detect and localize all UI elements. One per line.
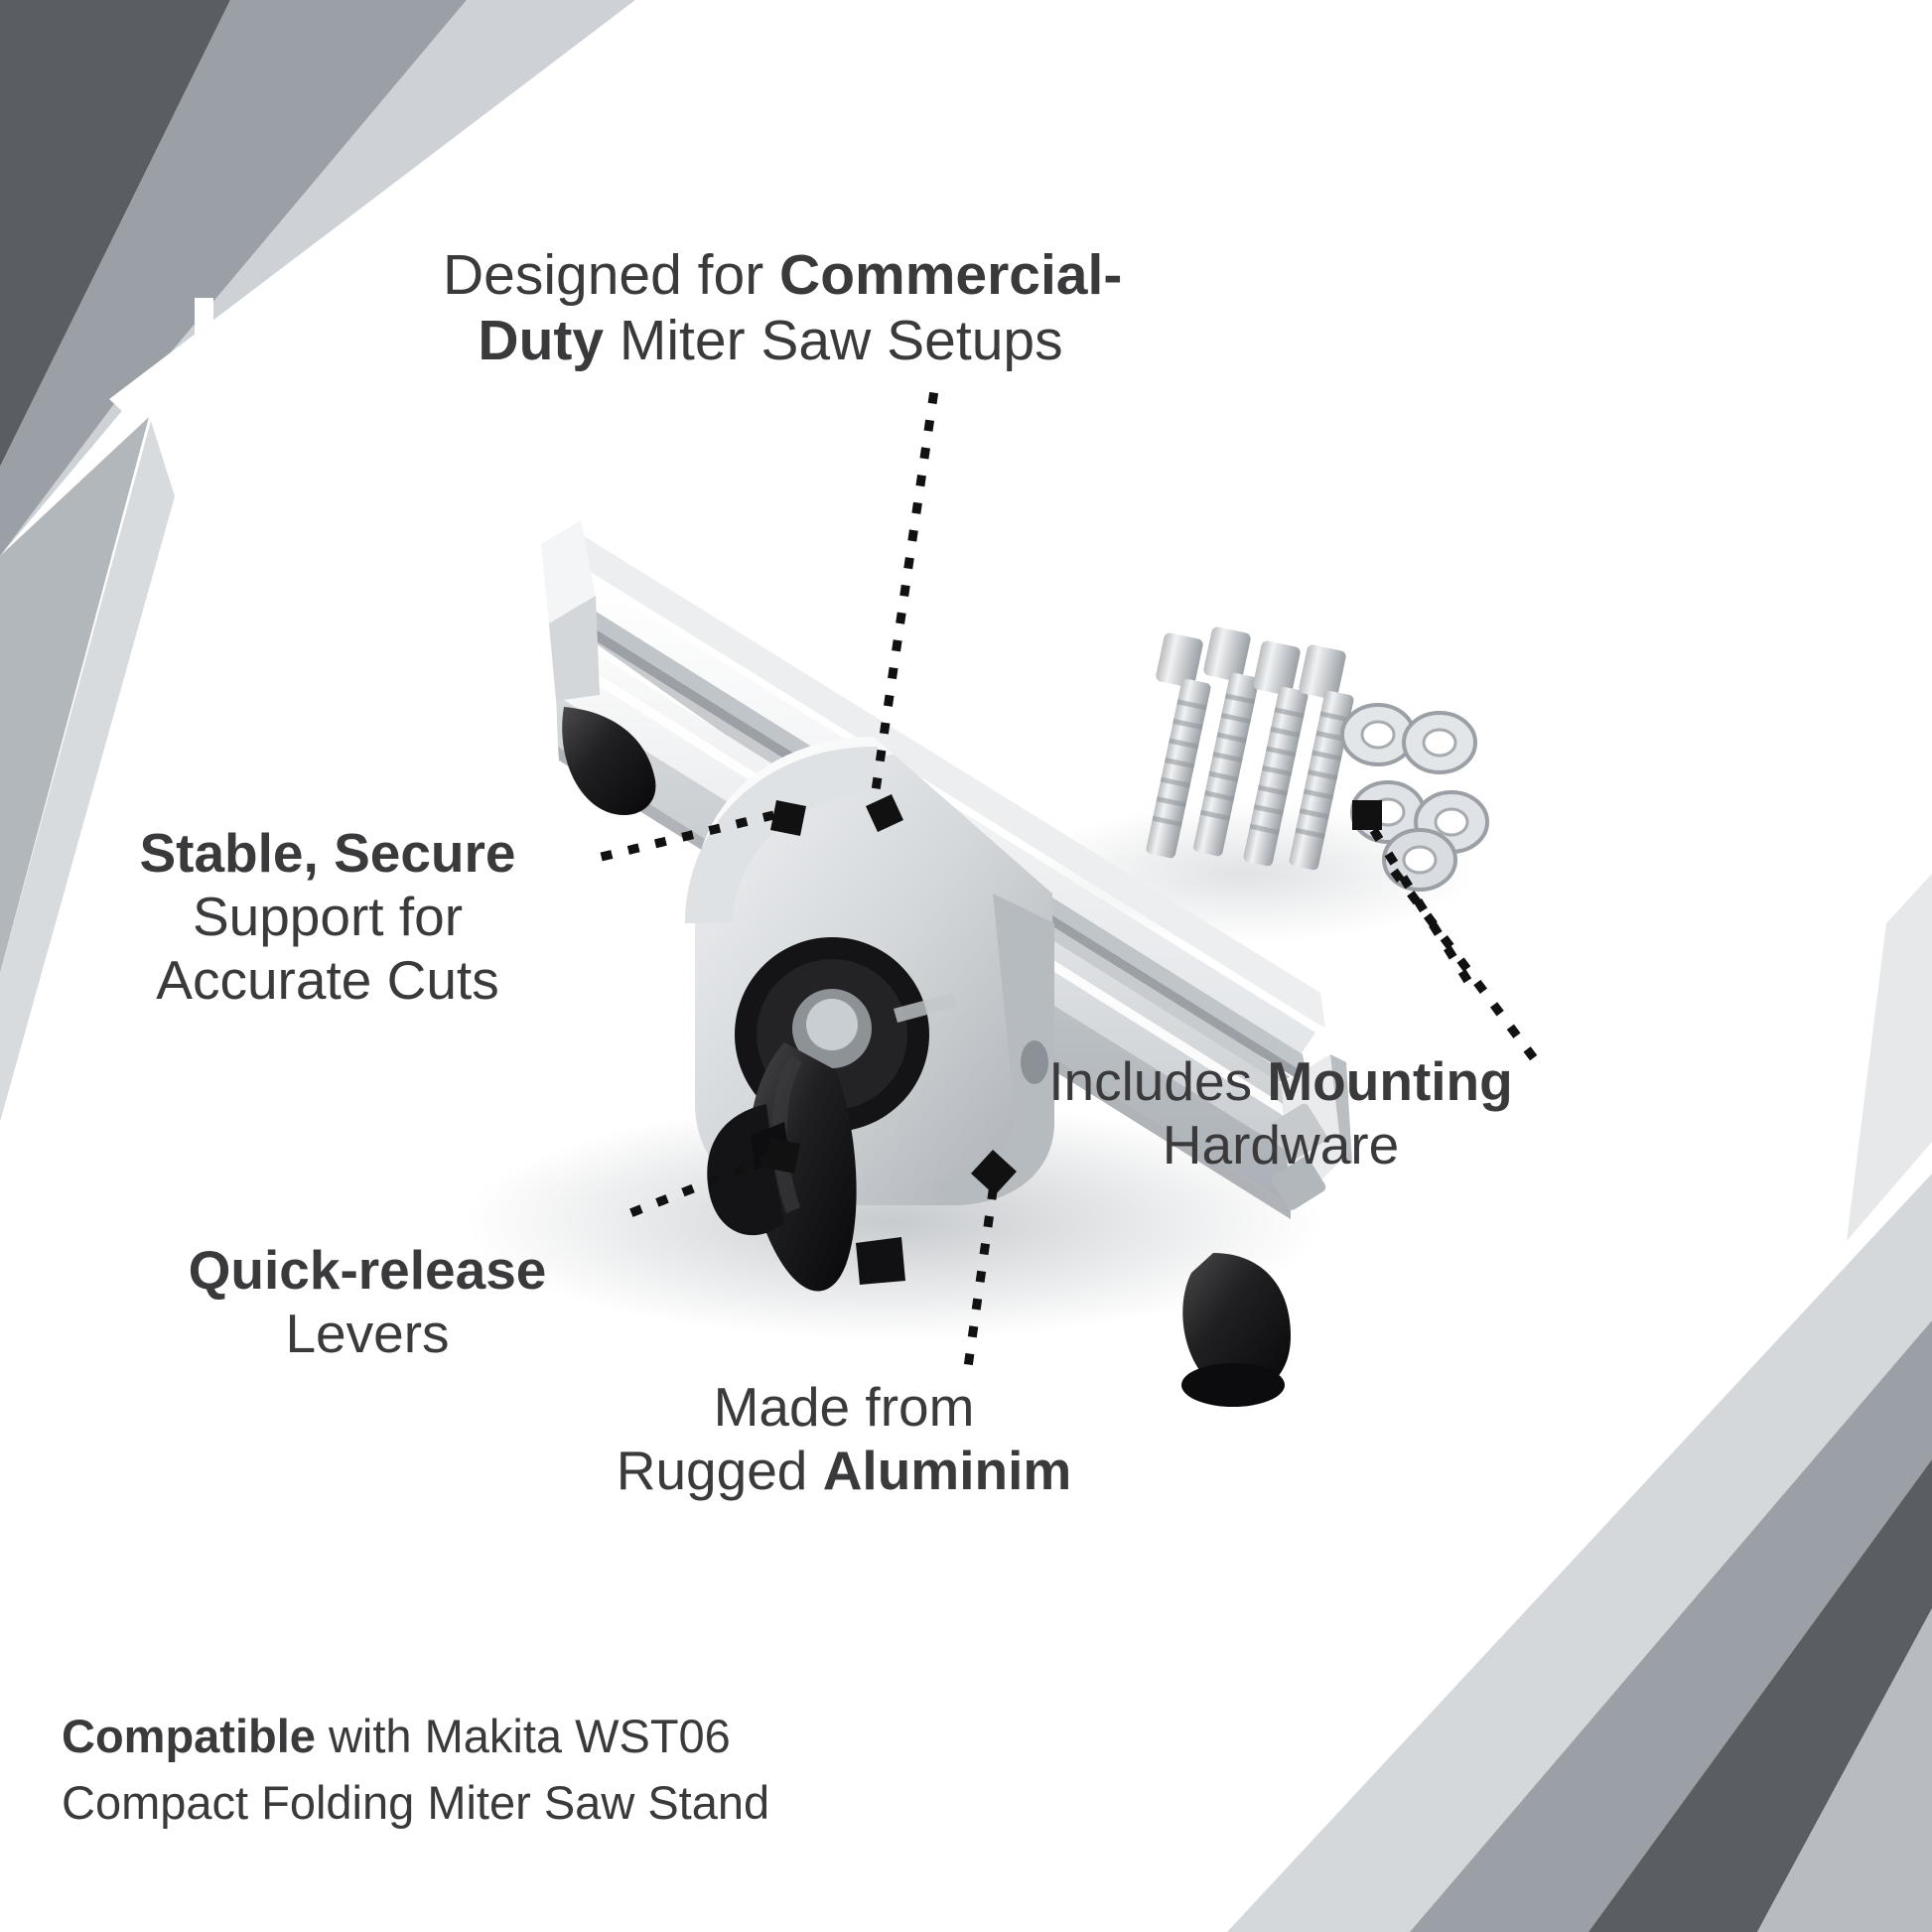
compatibility-line-1: Compatible with Makita WST06 <box>62 1704 1054 1770</box>
callout-commercial-duty: Designed for Commercial- Duty Miter Saw … <box>443 242 1098 373</box>
callout-mounting-line-1: Includes Mounting <box>1033 1050 1529 1114</box>
infographic-canvas: Designed for Commercial- Duty Miter Saw … <box>0 0 1932 1932</box>
callout-commercial-line-2: Duty Miter Saw Setups <box>443 308 1098 373</box>
callout-stable-line-1: Stable, Secure <box>119 822 536 886</box>
black-end-cap-right <box>1181 1253 1291 1407</box>
callout-mounting-line-2: Hardware <box>1033 1114 1529 1177</box>
callout-quick-line-2: Levers <box>159 1303 576 1366</box>
callout-stable-line-3: Accurate Cuts <box>119 949 536 1013</box>
callout-commercial-line-1: Designed for Commercial- <box>443 242 1098 308</box>
callout-aluminum-line-1: Made from <box>596 1376 1092 1440</box>
callout-mounting-hardware: Includes Mounting Hardware <box>1033 1050 1529 1177</box>
callout-aluminum-line-2: Rugged Aluminim <box>596 1440 1092 1503</box>
mounting-washer-2 <box>1404 713 1475 772</box>
callout-quick-release: Quick-release Levers <box>159 1239 576 1366</box>
compatibility-line-2: Compact Folding Miter Saw Stand <box>62 1770 1054 1837</box>
lever-tab-lower <box>856 1237 905 1285</box>
compatibility-note: Compatible with Makita WST06 Compact Fol… <box>62 1704 1054 1836</box>
callout-quick-line-1: Quick-release <box>159 1239 576 1303</box>
callout-stable-secure: Stable, Secure Support for Accurate Cuts <box>119 822 536 1012</box>
callout-rugged-aluminum: Made from Rugged Aluminim <box>596 1376 1092 1503</box>
mounting-washer-5 <box>1384 830 1455 890</box>
callout-stable-line-2: Support for <box>119 886 536 949</box>
